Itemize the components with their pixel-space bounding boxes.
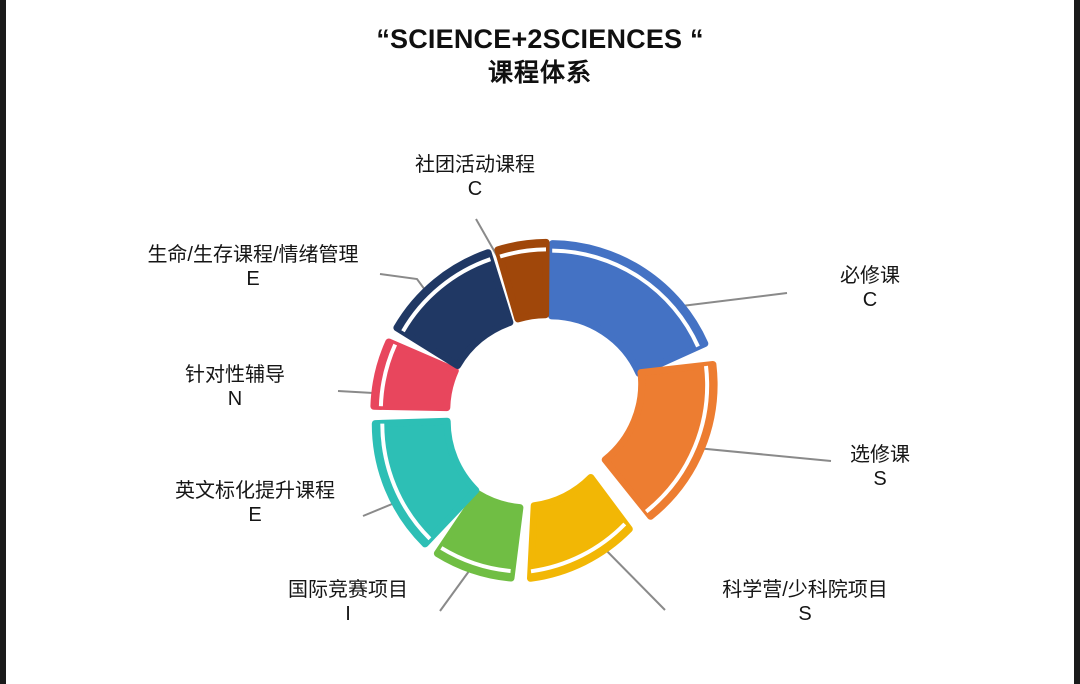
callout-guojijingsai-code: I xyxy=(258,602,438,626)
callout-yingwenbiaohua[interactable]: 英文标化提升课程 E xyxy=(155,479,355,528)
segment-xuanxiuke[interactable] xyxy=(605,365,714,517)
callout-shengming[interactable]: 生命/生存课程/情绪管理 E xyxy=(118,243,388,292)
slide-canvas: “SCIENCE+2SCIENCES “ 课程体系 xyxy=(0,0,1080,684)
callout-kexueying[interactable]: 科学营/少科院项目 S xyxy=(690,578,920,627)
segment-shengming-body xyxy=(397,253,510,366)
callout-zhenduixing-title: 针对性辅导 xyxy=(160,363,310,387)
callout-shengming-code: E xyxy=(118,267,388,291)
callout-shetuan[interactable]: 社团活动课程 C xyxy=(390,153,560,202)
callout-yingwenbiaohua-code: E xyxy=(155,503,355,527)
callout-yingwenbiaohua-title: 英文标化提升课程 xyxy=(155,479,355,503)
callout-zhenduixing-code: N xyxy=(160,387,310,411)
callout-guojijingsai[interactable]: 国际竞赛项目 I xyxy=(258,578,438,627)
callout-guojijingsai-title: 国际竞赛项目 xyxy=(258,578,438,602)
doughnut-chart: 必修课 C 选修课 S 科学营/少科院项目 S 国际竞赛项目 I 英文标化提升课… xyxy=(0,0,1080,684)
callout-xuanxiuke-title: 选修课 xyxy=(800,443,960,467)
callout-shetuan-title: 社团活动课程 xyxy=(390,153,560,177)
segment-shengming[interactable] xyxy=(397,253,510,366)
callout-bixiuke-title: 必修课 xyxy=(790,264,950,288)
callout-bixiuke[interactable]: 必修课 C xyxy=(790,264,950,313)
callout-shetuan-code: C xyxy=(390,177,560,201)
doughnut-segments xyxy=(374,242,714,578)
segment-bixiuke-body xyxy=(552,244,705,374)
segment-kexueying[interactable] xyxy=(531,478,630,579)
callout-kexueying-title: 科学营/少科院项目 xyxy=(690,578,920,602)
callout-kexueying-code: S xyxy=(690,602,920,626)
segment-kexueying-body xyxy=(531,478,630,579)
callout-bixiuke-code: C xyxy=(790,288,950,312)
segment-bixiuke[interactable] xyxy=(552,244,705,374)
callout-xuanxiuke[interactable]: 选修课 S xyxy=(800,443,960,492)
callout-zhenduixing[interactable]: 针对性辅导 N xyxy=(160,363,310,412)
callout-xuanxiuke-code: S xyxy=(800,467,960,491)
callout-shengming-title: 生命/生存课程/情绪管理 xyxy=(118,243,388,267)
